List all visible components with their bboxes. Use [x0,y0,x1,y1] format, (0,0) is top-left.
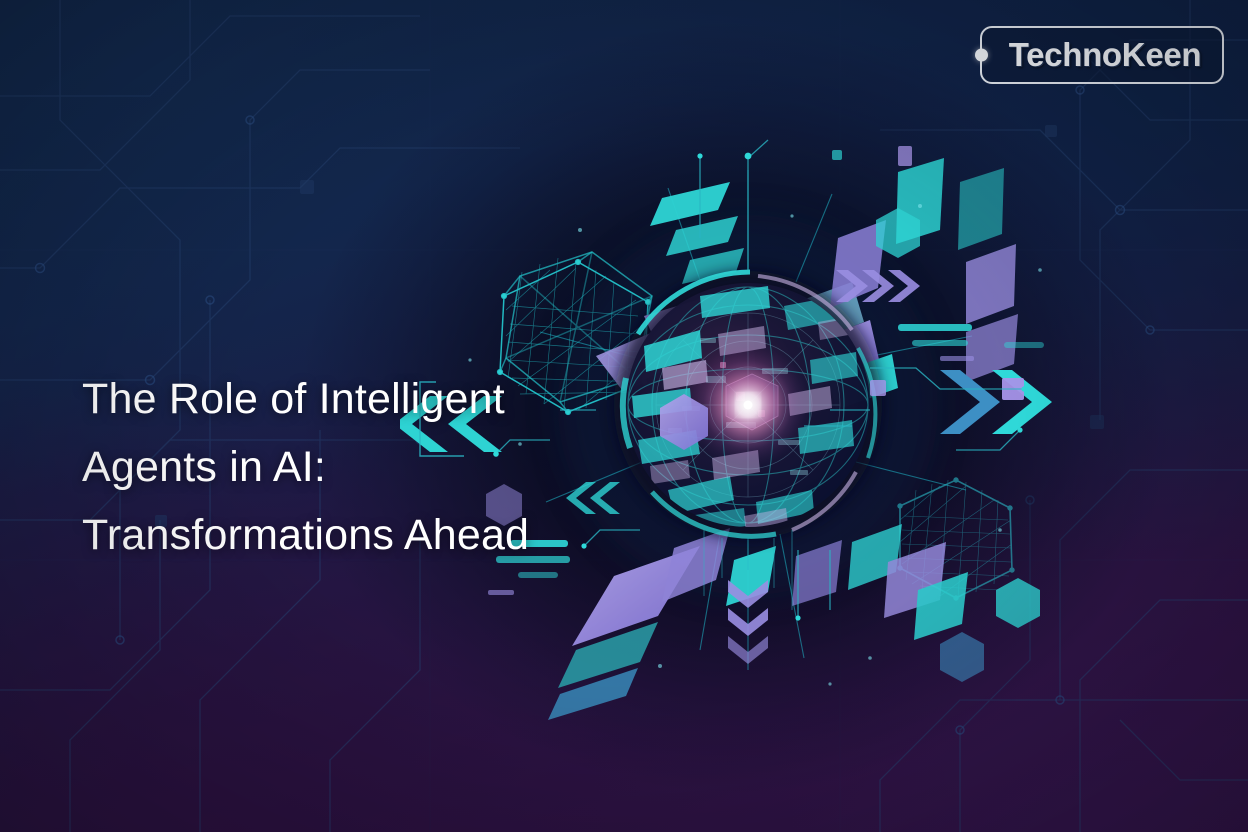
circle-dot-icon [975,49,988,62]
technokeen-logo[interactable]: TechnoKeen [980,26,1224,84]
banner-stage: The Role of Intelligent Agents in AI: Tr… [0,0,1248,832]
brand-name: TechnoKeen [1003,36,1202,74]
chevron-right-group [940,370,1052,434]
page-title: The Role of Intelligent Agents in AI: Tr… [82,365,642,569]
fragmented-sphere [614,271,882,539]
